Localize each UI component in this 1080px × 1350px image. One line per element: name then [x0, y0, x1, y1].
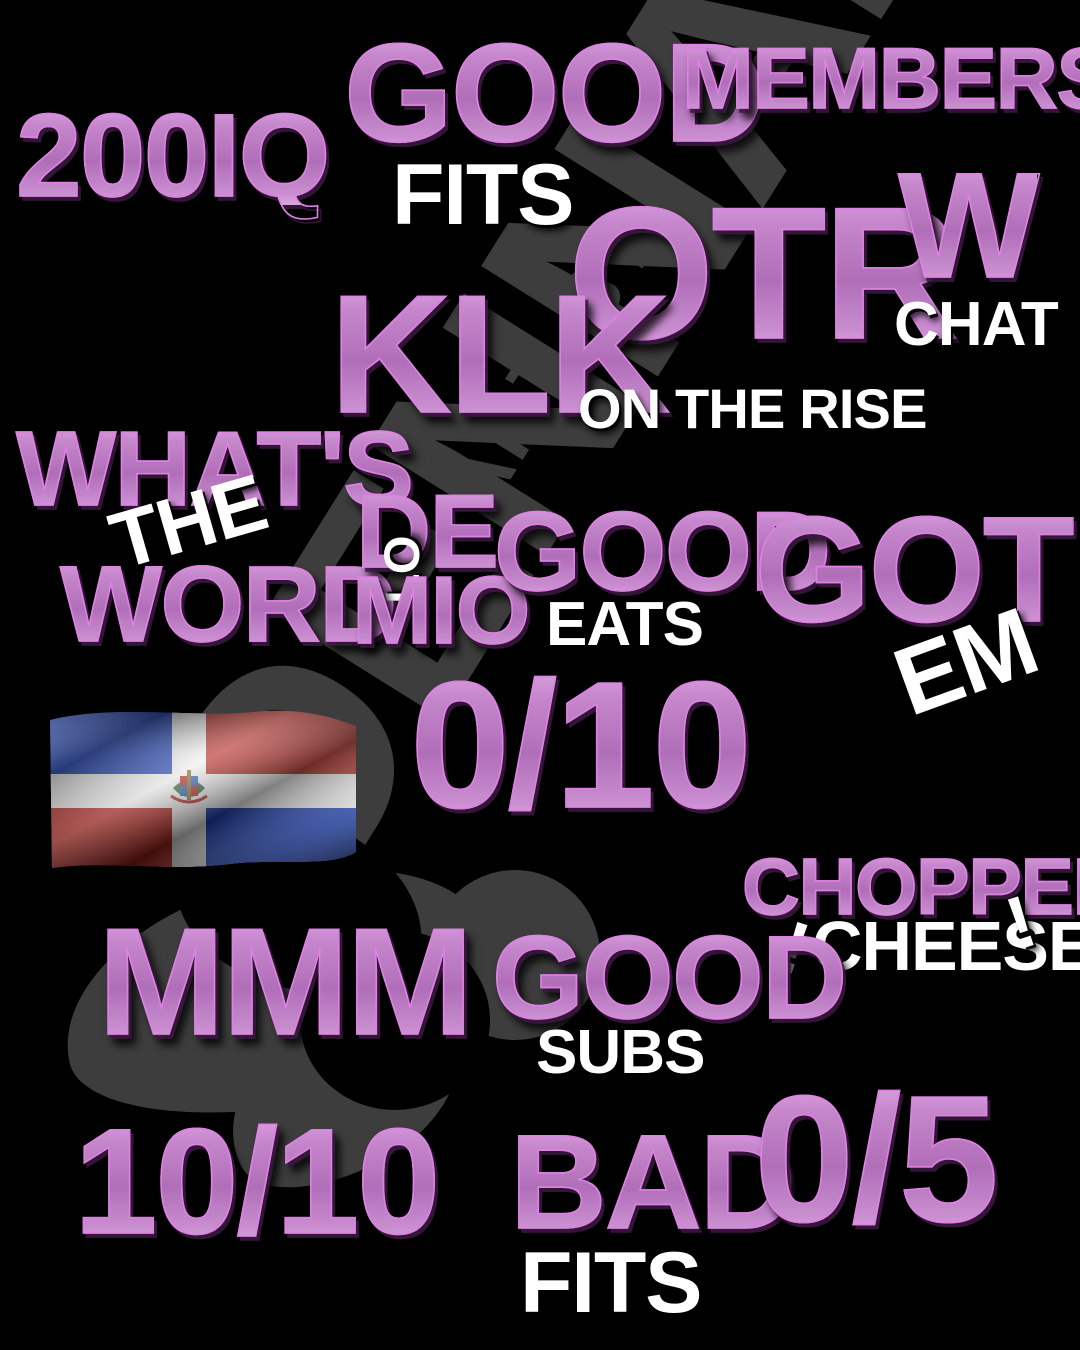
word-sticker-0-5: 0/5	[754, 1086, 996, 1234]
sticker-sheet-canvas: ART BY DENNARD	[0, 0, 1080, 1350]
word-sticker-200iq: 200IQ	[16, 108, 329, 205]
word-sticker-got: GOT	[754, 508, 1072, 631]
word-sticker-10-10: 10/10	[74, 1120, 438, 1243]
flag-svg	[44, 702, 362, 877]
word-sticker-chat: CHAT	[894, 300, 1058, 351]
word-sticker-fits: FITS	[392, 160, 573, 231]
word-sticker-bad: BAD	[510, 1128, 794, 1238]
word-sticker-mmm: MMM	[98, 920, 471, 1045]
word-sticker-subs: SUBS	[536, 1028, 705, 1079]
word-sticker-good: GOOD	[492, 930, 846, 1027]
word-sticker-eats: EATS	[546, 600, 703, 651]
word-sticker-word: WORD	[60, 560, 395, 649]
word-sticker-members: MEMBERS	[682, 44, 1080, 115]
word-sticker-fits: FITS	[520, 1248, 701, 1319]
dominican-republic-flag	[44, 702, 362, 877]
word-sticker-w: W	[898, 164, 1037, 287]
word-sticker-0-10: 0/10	[410, 672, 750, 820]
word-sticker-on-the-rise: ON THE RISE	[578, 386, 927, 432]
